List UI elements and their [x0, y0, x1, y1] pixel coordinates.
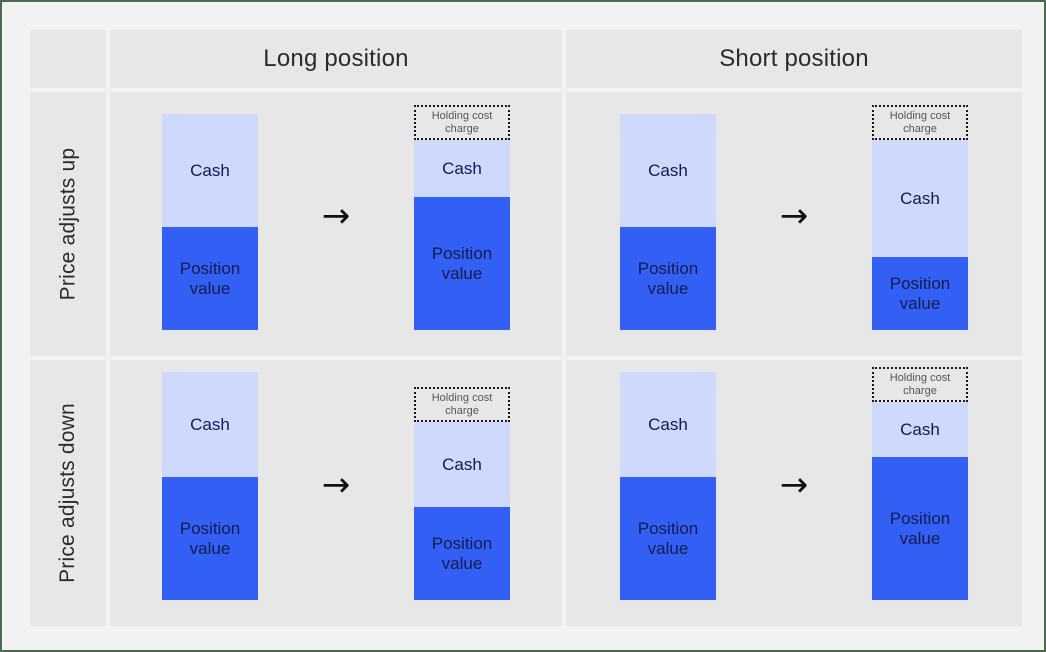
bar-slot-after: Holding cost charge Cash Position value — [382, 92, 542, 356]
row-header-label: Price adjusts up — [56, 148, 80, 301]
segment-holding-cost-charge: Holding cost charge — [872, 367, 968, 402]
segment-cash: Cash — [872, 402, 968, 457]
row-header-price-adjusts-down: Price adjusts down — [30, 360, 106, 626]
bar-slot-after: Holding cost charge Cash Position value — [840, 92, 1000, 356]
segment-position-value-label: Position value — [638, 259, 698, 297]
arrow-right-icon: → — [322, 468, 351, 502]
stacked-bar-after: Holding cost charge Cash Position value — [414, 105, 510, 330]
transition-arrow-slot: → — [748, 360, 840, 626]
segment-position-value: Position value — [620, 227, 716, 330]
segment-position-value-label: Position value — [638, 519, 698, 557]
segment-position-value: Position value — [162, 227, 258, 330]
segment-cash: Cash — [414, 140, 510, 197]
arrow-right-icon: → — [780, 468, 809, 502]
segment-holding-cost-charge: Holding cost charge — [872, 105, 968, 140]
segment-position-value: Position value — [414, 507, 510, 600]
segment-cash: Cash — [414, 422, 510, 507]
column-header-short-position: Short position — [566, 30, 1022, 88]
holding-cost-charge-label: Holding cost charge — [432, 110, 493, 136]
row-header-label: Price adjusts down — [56, 403, 80, 583]
column-header-label: Short position — [719, 45, 869, 73]
stacked-bar-before: Cash Position value — [162, 114, 258, 330]
holding-cost-charge-label: Holding cost charge — [890, 110, 951, 136]
holding-cost-charge-label: Holding cost charge — [432, 392, 493, 418]
transition-arrow-slot: → — [290, 92, 382, 356]
matrix-corner-cell — [30, 30, 106, 88]
segment-position-value: Position value — [162, 477, 258, 600]
stacked-bar-before: Cash Position value — [620, 114, 716, 330]
bar-slot-before: Cash Position value — [130, 360, 290, 626]
segment-position-value-label: Position value — [180, 519, 240, 557]
bar-slot-after: Holding cost charge Cash Position value — [840, 360, 1000, 626]
segment-cash: Cash — [162, 372, 258, 477]
arrow-right-icon: → — [322, 199, 351, 233]
bar-slot-before: Cash Position value — [130, 92, 290, 356]
column-header-long-position: Long position — [110, 30, 562, 88]
segment-position-value-label: Position value — [432, 534, 492, 572]
segment-position-value: Position value — [872, 457, 968, 600]
bar-slot-after: Holding cost charge Cash Position value — [382, 360, 542, 626]
segment-position-value-label: Position value — [890, 274, 950, 312]
stacked-bar-after: Holding cost charge Cash Position value — [414, 387, 510, 600]
segment-position-value: Position value — [872, 257, 968, 330]
holding-cost-charge-label: Holding cost charge — [890, 372, 951, 398]
segment-cash: Cash — [620, 114, 716, 227]
row-header-price-adjusts-up: Price adjusts up — [30, 92, 106, 356]
arrow-right-icon: → — [780, 199, 809, 233]
segment-cash: Cash — [162, 114, 258, 227]
scenario-long-price-down: Cash Position value → Holding cost charg… — [110, 360, 562, 626]
stacked-bar-before: Cash Position value — [162, 372, 258, 600]
scenario-matrix: Long position Short position Price adjus… — [30, 30, 1018, 622]
segment-position-value-label: Position value — [180, 259, 240, 297]
segment-position-value: Position value — [620, 477, 716, 600]
stacked-bar-before: Cash Position value — [620, 372, 716, 600]
transition-arrow-slot: → — [748, 92, 840, 356]
segment-position-value-label: Position value — [432, 244, 492, 282]
transition-arrow-slot: → — [290, 360, 382, 626]
stacked-bar-after: Holding cost charge Cash Position value — [872, 367, 968, 600]
segment-cash: Cash — [872, 140, 968, 257]
scenario-short-price-down: Cash Position value → Holding cost charg… — [566, 360, 1022, 626]
bar-slot-before: Cash Position value — [588, 360, 748, 626]
bar-slot-before: Cash Position value — [588, 92, 748, 356]
segment-position-value-label: Position value — [890, 509, 950, 547]
column-header-label: Long position — [263, 45, 408, 73]
segment-position-value: Position value — [414, 197, 510, 330]
scenario-long-price-up: Cash Position value → Holding cost charg… — [110, 92, 562, 356]
segment-cash: Cash — [620, 372, 716, 477]
scenario-short-price-up: Cash Position value → Holding cost charg… — [566, 92, 1022, 356]
segment-holding-cost-charge: Holding cost charge — [414, 105, 510, 140]
segment-holding-cost-charge: Holding cost charge — [414, 387, 510, 422]
stacked-bar-after: Holding cost charge Cash Position value — [872, 105, 968, 330]
